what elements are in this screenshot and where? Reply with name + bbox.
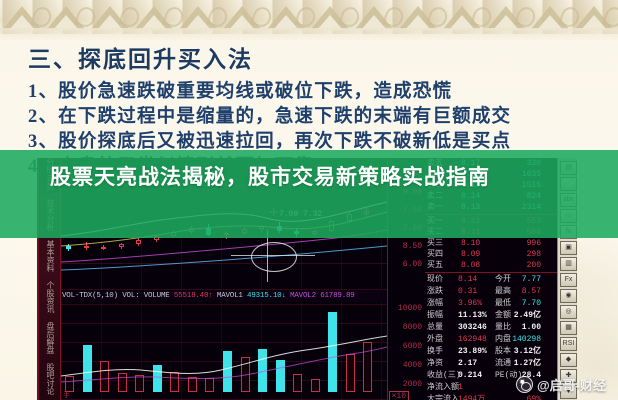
stat-key: 总量 bbox=[427, 322, 443, 334]
indicator-name: VOL-TDX(5,10) bbox=[62, 292, 118, 300]
stat-key: 外盘 bbox=[427, 334, 443, 346]
stat-key: 涨跌 bbox=[427, 286, 443, 298]
decorative-top-border bbox=[0, 0, 618, 34]
volume-axis-scale: ×10 bbox=[389, 391, 409, 400]
quote-stat-row: 涨幅3.96%最低7.70 bbox=[425, 298, 557, 310]
buy-order-row[interactable]: 买五8.08200 bbox=[425, 260, 557, 271]
indicator-mavol2-value: 61789.89 bbox=[320, 292, 354, 300]
stat-value: 0.31 bbox=[458, 286, 477, 298]
stat-value: 1494万 bbox=[458, 394, 485, 400]
stat-value: 3.12亿 bbox=[514, 346, 541, 358]
stat-key: 收益(三) bbox=[427, 370, 461, 382]
stat-key: 流通 bbox=[495, 358, 511, 370]
quote-stat-row: 大宗流入1494万69% bbox=[425, 394, 557, 400]
stat-key: 内盘 bbox=[495, 334, 511, 346]
volume-pane[interactable]: 手 bbox=[61, 302, 387, 400]
price-tick: 6.00 bbox=[403, 260, 422, 269]
stat-value: 8.14 bbox=[458, 274, 477, 286]
stats-divider bbox=[425, 272, 557, 273]
quote-stat-row: 涨跌0.31最高8.57 bbox=[425, 286, 557, 298]
stat-key: 股本 bbox=[495, 346, 511, 358]
stat-value: 0.214 bbox=[458, 370, 482, 382]
quote-stat-row: 现价8.14今开7.77 bbox=[425, 274, 557, 286]
price-tick: 8.50 bbox=[403, 242, 422, 251]
order-volume: 200 bbox=[527, 260, 541, 271]
volume-tick: 10000 bbox=[398, 304, 422, 313]
level-icon[interactable]: ▣ bbox=[560, 241, 577, 255]
indicator-vol-label: VOL: bbox=[122, 292, 139, 300]
stat-key: 金额 bbox=[495, 310, 511, 322]
stat-key: 涨幅 bbox=[427, 298, 443, 310]
volume-axis-unit-label: 手 bbox=[63, 390, 70, 400]
stat-key: 净资 bbox=[427, 358, 443, 370]
stat-value: 303246 bbox=[458, 322, 487, 334]
buy-order-row[interactable]: 买四8.09298 bbox=[425, 249, 557, 260]
stat-key: 振幅 bbox=[427, 310, 443, 322]
stat-key: 换手 bbox=[427, 346, 443, 358]
quote-stat-row: 外盘162948内盘140298 bbox=[425, 334, 557, 346]
watermark-handle: @启哥-财经 bbox=[537, 375, 606, 394]
highlight-circle bbox=[251, 242, 297, 272]
stat-value: 23.89% bbox=[458, 346, 487, 358]
compass-icon[interactable]: ◉ bbox=[560, 289, 577, 303]
stat-value: 8.57 bbox=[522, 286, 541, 298]
quote-stat-row: 总量303246量比1.00 bbox=[425, 322, 557, 334]
stat-key: 最高 bbox=[495, 286, 511, 298]
stat-value: 11.13% bbox=[458, 310, 487, 322]
indicator-volume-arrow: ↑ bbox=[208, 292, 212, 300]
indicator-mavol1-label: MAVOL1 bbox=[217, 292, 243, 300]
stat-value: 140298 bbox=[512, 334, 541, 346]
stat-key: 净流入额 bbox=[427, 382, 459, 394]
indicator-mavol1-arrow: ↓ bbox=[281, 292, 285, 300]
stat-value: 69% bbox=[527, 394, 541, 400]
stat-key: 量比 bbox=[495, 322, 511, 334]
order-price: 8.08 bbox=[461, 260, 480, 271]
rule-item-2: 2、在下跌过程中是缩量的，急速下跌的末端有巨额成交 bbox=[28, 105, 598, 130]
rule-item-1: 1、股价急速跌破重要均线或破位下跌，造成恐慌 bbox=[28, 80, 598, 105]
indicator-volume-value: 55518.40 bbox=[174, 292, 208, 300]
volume-tick: 4000 bbox=[403, 361, 422, 370]
stat-value: 1 bbox=[458, 382, 463, 394]
volume-tick: 8000 bbox=[403, 323, 422, 332]
bar-icon[interactable]: ▦ bbox=[560, 321, 577, 335]
rsi-icon[interactable]: RSI bbox=[560, 337, 577, 351]
stat-value: 7.70 bbox=[522, 298, 541, 310]
circle-icon[interactable]: ◎ bbox=[560, 305, 577, 319]
order-volume: 996 bbox=[527, 238, 541, 249]
stat-value: 1.27亿 bbox=[514, 358, 541, 370]
stat-value: 162948 bbox=[458, 334, 487, 346]
frame-icon[interactable]: ▥ bbox=[560, 257, 577, 271]
quote-stat-row: 振幅11.13%金额2.49亿 bbox=[425, 310, 557, 322]
stat-value: 2.49亿 bbox=[514, 310, 541, 322]
volume-ma-lines bbox=[61, 302, 387, 400]
stat-key: 最低 bbox=[495, 298, 511, 310]
order-label: 买四 bbox=[427, 249, 443, 260]
order-volume: 298 bbox=[527, 249, 541, 260]
indicator-volume-label: VOLUME bbox=[144, 292, 170, 300]
order-label: 买三 bbox=[427, 238, 443, 249]
weibo-logo-icon bbox=[516, 376, 533, 393]
stat-key: 现价 bbox=[427, 274, 443, 286]
stat-value: 3.96% bbox=[458, 298, 482, 310]
order-price: 8.09 bbox=[461, 249, 480, 260]
indicator-mavol2-label: MAVOL2 bbox=[290, 292, 316, 300]
fx-icon[interactable]: Fx bbox=[560, 273, 577, 287]
stat-key: 大宗流入 bbox=[427, 394, 459, 400]
flame-icon[interactable]: ◆ bbox=[560, 353, 577, 367]
volume-tick: 6000 bbox=[403, 342, 422, 351]
page-root: 三、探底回升买入法 1、股价急速跌破重要均线或破位下跌，造成恐慌 2、在下跌过程… bbox=[0, 0, 618, 400]
watermark: @启哥-财经 bbox=[516, 375, 606, 394]
volume-indicator-header: VOL-TDX(5,10) VOL: VOLUME 55518.40↑ MAVO… bbox=[61, 290, 387, 302]
order-label: 买五 bbox=[427, 260, 443, 271]
order-price: 8.10 bbox=[461, 238, 480, 249]
volume-tick: 2000 bbox=[403, 380, 422, 389]
quote-stat-row: 换手23.89%股本3.12亿 bbox=[425, 346, 557, 358]
stat-value: 1.00 bbox=[522, 322, 541, 334]
indicator-mavol1-value: 49315.10 bbox=[247, 292, 281, 300]
stat-value: 7.77 bbox=[522, 274, 541, 286]
stat-value: 2.17 bbox=[458, 358, 477, 370]
quote-stat-row: 净资2.17流通1.27亿 bbox=[425, 358, 557, 370]
buy-order-row[interactable]: 买三8.10996 bbox=[425, 238, 557, 249]
page-title: 三、探底回升买入法 bbox=[28, 40, 598, 74]
overlay-title-text: 股票天亮战法揭秘，股市交易新策略实战指南 bbox=[50, 162, 570, 193]
stat-key: 今开 bbox=[495, 274, 511, 286]
